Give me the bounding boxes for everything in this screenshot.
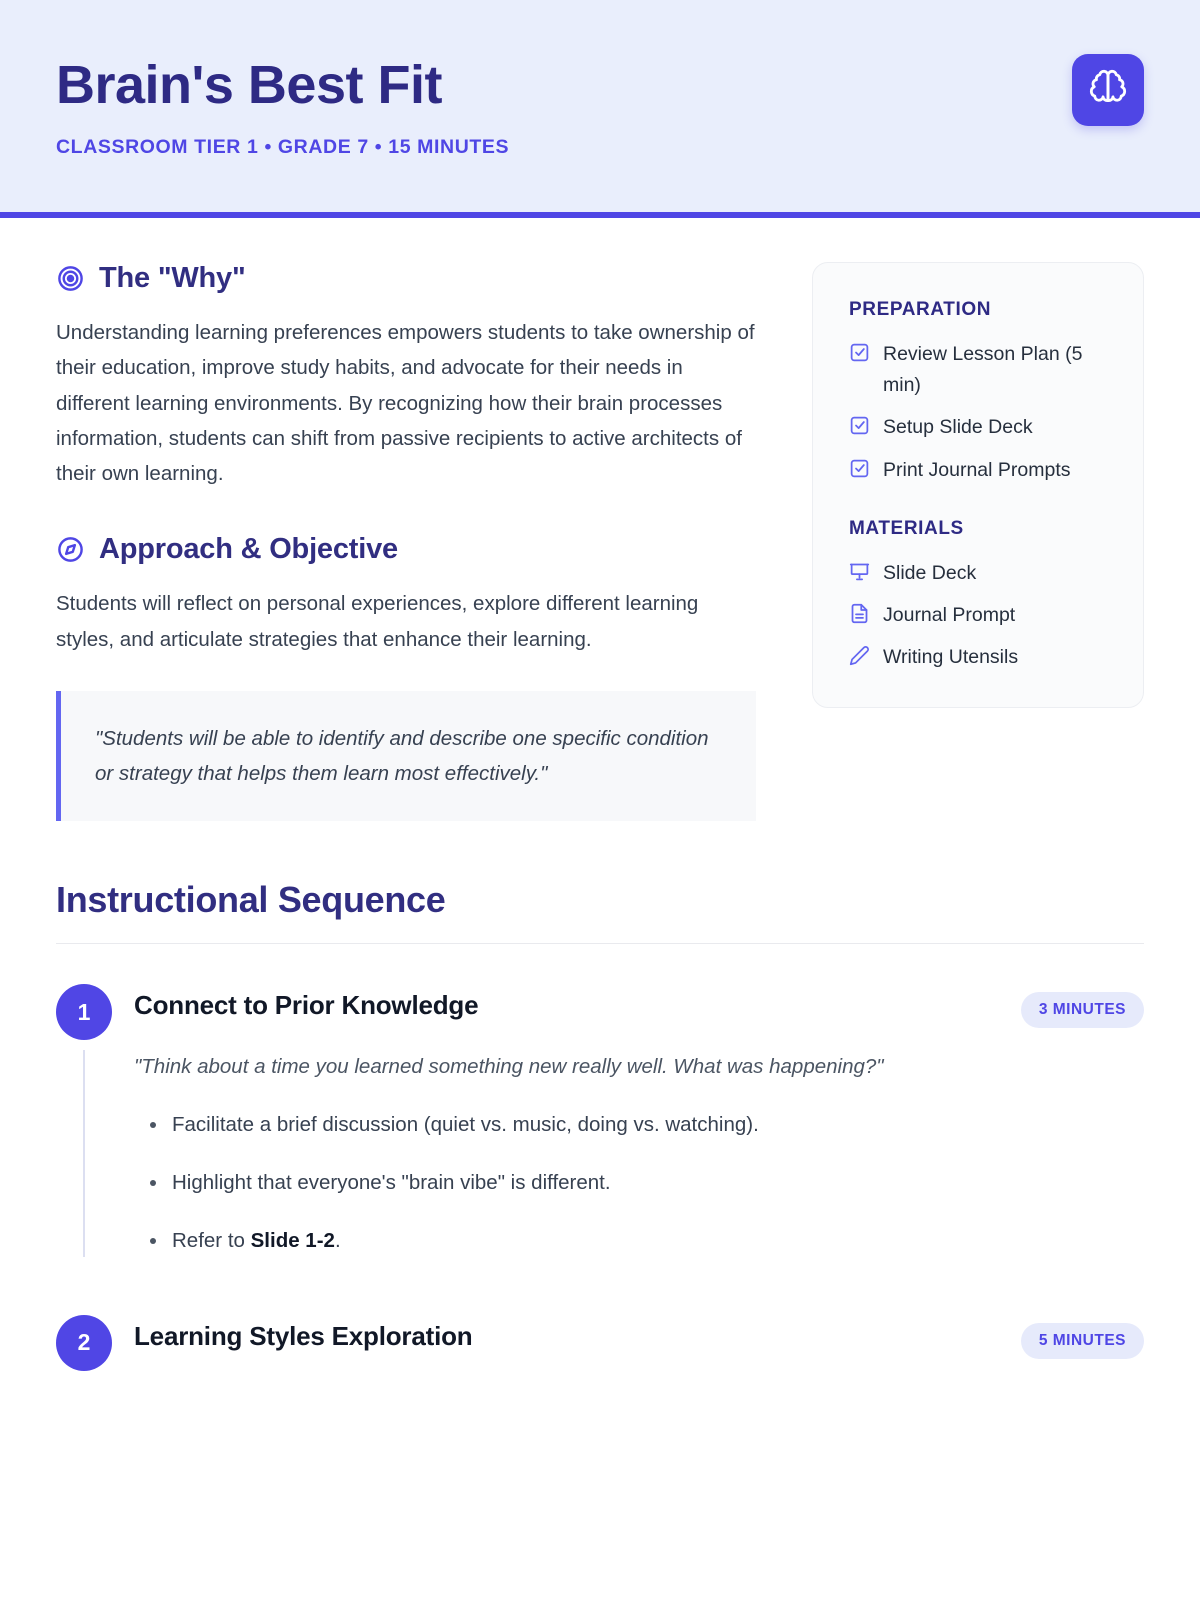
step-title: Learning Styles Exploration (134, 1321, 472, 1352)
step-duration-badge: 3 MINUTES (1021, 992, 1144, 1028)
brain-badge[interactable] (1072, 54, 1144, 126)
why-text: Understanding learning preferences empow… (56, 315, 756, 491)
file-text-icon (849, 603, 870, 624)
step-quote: "Think about a time you learned somethin… (134, 1050, 1144, 1083)
step-rail: 2 (56, 1315, 112, 1371)
left-column: The "Why" Understanding learning prefere… (56, 262, 756, 821)
list-item-label: Setup Slide Deck (883, 412, 1033, 443)
bullet-dot-icon (150, 1180, 156, 1186)
step-connector-line (83, 1050, 85, 1257)
list-item-label: Journal Prompt (883, 600, 1015, 631)
check-square-icon (849, 342, 870, 363)
materials-label: MATERIALS (849, 518, 1113, 540)
why-section-header: The "Why" (56, 262, 756, 295)
sequence-step: 1 Connect to Prior Knowledge 3 MINUTES "… (56, 984, 1144, 1257)
sequence-title: Instructional Sequence (56, 879, 1144, 921)
right-column: PREPARATION Review Lesson Plan (5 min) (812, 262, 1144, 708)
preparation-label: PREPARATION (849, 299, 1113, 321)
approach-heading: Approach & Objective (99, 533, 398, 566)
check-square-icon (849, 458, 870, 479)
list-item[interactable]: Journal Prompt (849, 600, 1113, 631)
sequence-step: 2 Learning Styles Exploration 5 MINUTES (56, 1315, 1144, 1371)
step-rail: 1 (56, 984, 112, 1257)
step-number-badge: 1 (56, 984, 112, 1040)
step-number-badge: 2 (56, 1315, 112, 1371)
compass-icon (56, 535, 85, 564)
page-header: Brain's Best Fit CLASSROOM TIER 1 • GRAD… (0, 0, 1200, 218)
list-item[interactable]: Print Journal Prompts (849, 455, 1113, 486)
bullet-dot-icon (150, 1122, 156, 1128)
step-header: Connect to Prior Knowledge 3 MINUTES (134, 990, 1144, 1028)
lesson-plan-page: Brain's Best Fit CLASSROOM TIER 1 • GRAD… (0, 0, 1200, 1600)
list-item-label: Refer to Slide 1-2. (172, 1225, 341, 1257)
list-item: Refer to Slide 1-2. (134, 1225, 1144, 1257)
list-item-label: Highlight that everyone's "brain vibe" i… (172, 1167, 611, 1199)
bullet-dot-icon (150, 1238, 156, 1244)
list-item: Facilitate a brief discussion (quiet vs.… (134, 1109, 1144, 1141)
list-item-label: Writing Utensils (883, 642, 1018, 673)
list-item[interactable]: Slide Deck (849, 558, 1113, 589)
brain-icon (1088, 68, 1128, 113)
list-item: Highlight that everyone's "brain vibe" i… (134, 1167, 1144, 1199)
step-body: Connect to Prior Knowledge 3 MINUTES "Th… (134, 984, 1144, 1257)
step-title: Connect to Prior Knowledge (134, 990, 478, 1021)
bullet-tail: . (335, 1229, 341, 1252)
why-heading: The "Why" (99, 262, 246, 295)
presentation-icon (849, 561, 870, 582)
approach-section-header: Approach & Objective (56, 533, 756, 566)
list-item[interactable]: Setup Slide Deck (849, 412, 1113, 443)
list-item[interactable]: Writing Utensils (849, 642, 1113, 673)
step-body: Learning Styles Exploration 5 MINUTES (134, 1315, 1144, 1371)
list-item-label: Slide Deck (883, 558, 976, 589)
header-texts: Brain's Best Fit CLASSROOM TIER 1 • GRAD… (56, 52, 509, 159)
objective-quote: "Students will be able to identify and d… (56, 691, 756, 822)
list-item[interactable]: Review Lesson Plan (5 min) (849, 339, 1113, 401)
list-item-label: Review Lesson Plan (5 min) (883, 339, 1113, 401)
list-item-label: Facilitate a brief discussion (quiet vs.… (172, 1109, 759, 1141)
pencil-icon (849, 645, 870, 666)
step-duration-badge: 5 MINUTES (1021, 1323, 1144, 1359)
instructional-sequence: Instructional Sequence 1 Connect to Prio… (0, 821, 1200, 1371)
bullet-text: Refer to (172, 1229, 251, 1252)
list-item-label: Print Journal Prompts (883, 455, 1071, 486)
step-header: Learning Styles Exploration 5 MINUTES (134, 1321, 1144, 1359)
step-bullet-list: Facilitate a brief discussion (quiet vs.… (134, 1109, 1144, 1256)
preparation-list: Review Lesson Plan (5 min) Setup Slide D… (849, 339, 1113, 486)
prep-materials-card: PREPARATION Review Lesson Plan (5 min) (812, 262, 1144, 708)
target-icon (56, 264, 85, 293)
approach-section: Approach & Objective Students will refle… (56, 533, 756, 821)
page-subtitle: CLASSROOM TIER 1 • GRADE 7 • 15 MINUTES (56, 136, 509, 159)
sequence-divider (56, 943, 1144, 944)
approach-text: Students will reflect on personal experi… (56, 586, 756, 657)
check-square-icon (849, 415, 870, 436)
why-section: The "Why" Understanding learning prefere… (56, 262, 756, 491)
main-content: The "Why" Understanding learning prefere… (0, 218, 1200, 821)
materials-list: Slide Deck Journal Prompt (849, 558, 1113, 674)
page-title: Brain's Best Fit (56, 56, 509, 114)
section-spacer (56, 491, 756, 533)
slide-reference: Slide 1-2 (251, 1229, 335, 1252)
